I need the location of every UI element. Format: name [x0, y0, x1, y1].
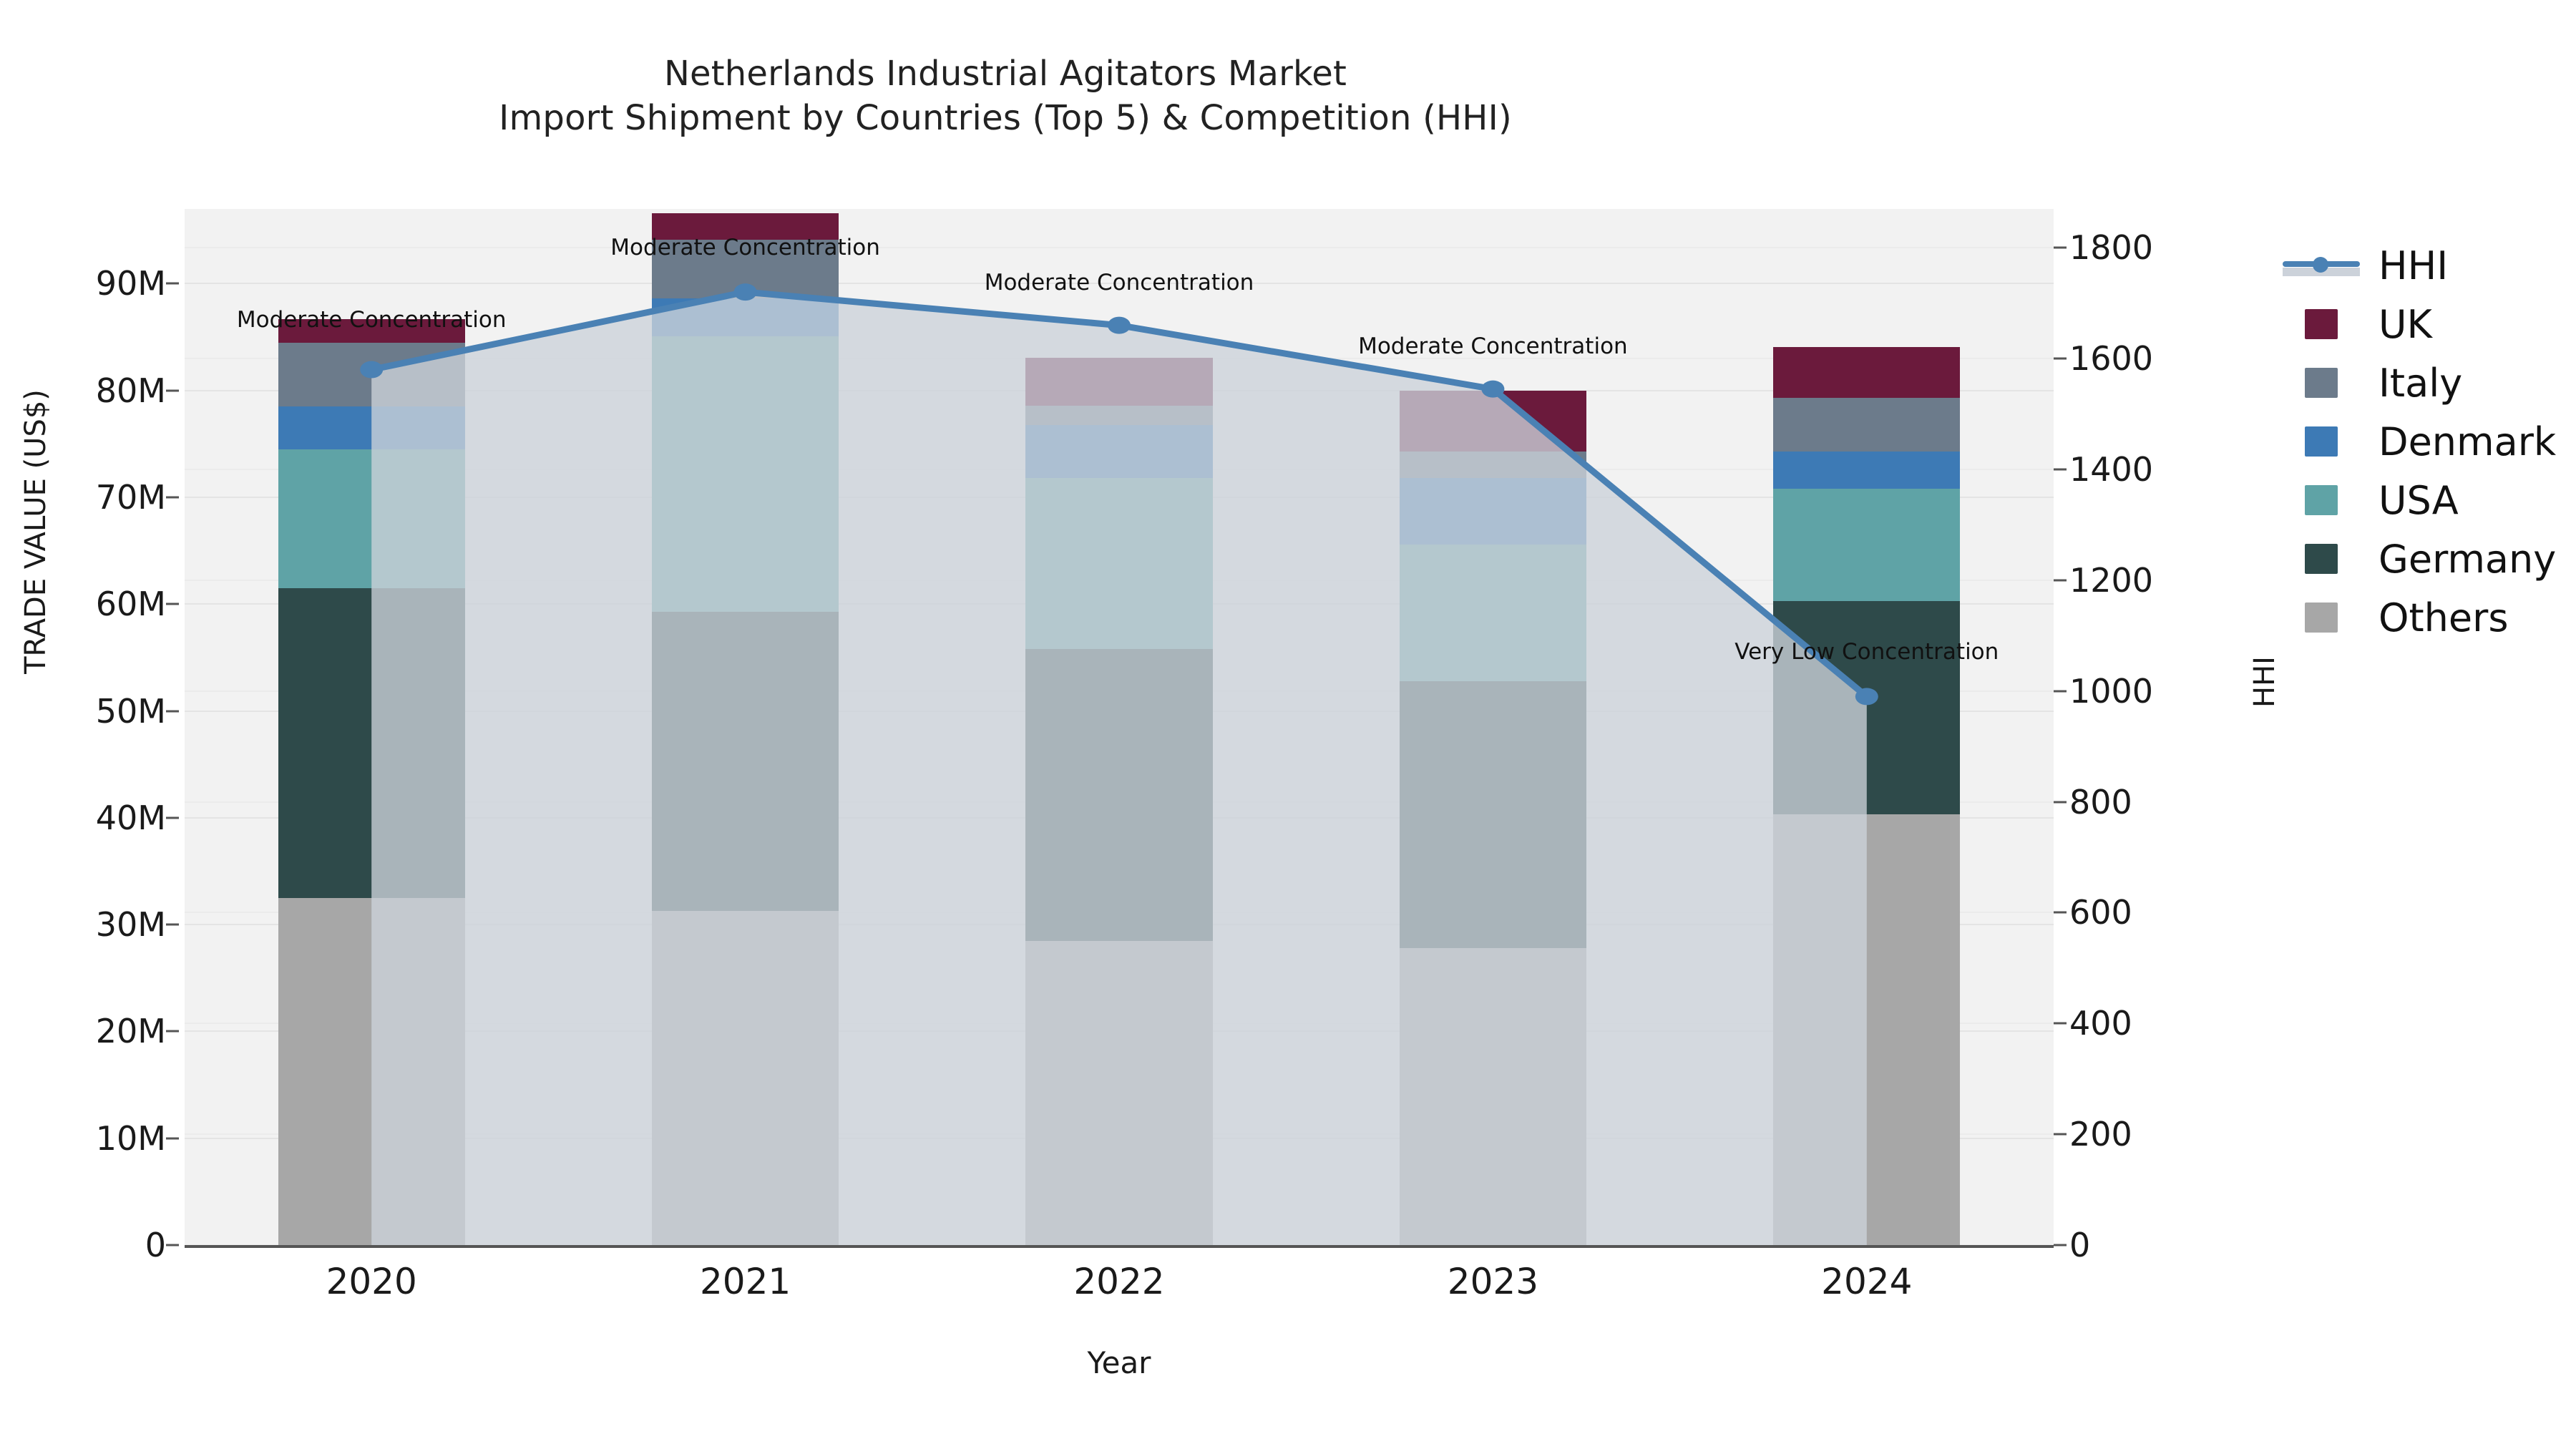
bar-segment-uk[interactable]: [1400, 391, 1586, 452]
y-tick-mark-left: [166, 1137, 179, 1139]
color-swatch-icon: [2305, 368, 2338, 398]
x-tick-label: 2021: [700, 1261, 791, 1302]
bar-group[interactable]: [652, 213, 839, 1245]
bar-segment-usa[interactable]: [278, 449, 465, 588]
y-tick-mark-left: [166, 816, 179, 819]
x-tick-label: 2022: [1073, 1261, 1164, 1302]
bar-group[interactable]: [1773, 347, 1960, 1245]
legend-label: HHI: [2379, 243, 2448, 288]
legend-item-others[interactable]: Others: [2283, 588, 2556, 647]
legend-label: Denmark: [2379, 419, 2556, 464]
y-tick-mark-right: [2054, 468, 2067, 470]
bar-group[interactable]: [1025, 358, 1212, 1246]
bar-segment-denmark[interactable]: [1400, 478, 1586, 545]
y-axis-left-label: TRADE VALUE (US$): [19, 281, 52, 782]
bar-segment-usa[interactable]: [1025, 478, 1212, 649]
y-tick-mark-right: [2054, 1133, 2067, 1136]
bar-segment-others[interactable]: [1400, 948, 1586, 1245]
color-swatch-icon: [2305, 602, 2338, 633]
y-tick-label-left: 70M: [96, 478, 166, 517]
bar-segment-denmark[interactable]: [652, 298, 839, 336]
legend-swatch-icon: [2283, 601, 2360, 634]
legend-swatch-icon: [2283, 425, 2360, 458]
y-tick-label-right: 0: [2069, 1226, 2090, 1264]
y-tick-mark-right: [2054, 690, 2067, 692]
y-tick-mark-left: [166, 1030, 179, 1033]
bar-segment-usa[interactable]: [652, 336, 839, 612]
bar-segment-italy[interactable]: [1400, 452, 1586, 478]
hhi-line-icon: [2283, 249, 2360, 282]
bar-segment-denmark[interactable]: [1025, 425, 1212, 479]
legend-label: Others: [2379, 595, 2508, 640]
chart-title-line2: Import Shipment by Countries (Top 5) & C…: [0, 96, 2011, 140]
y-tick-mark-right: [2054, 358, 2067, 360]
bar-segment-uk[interactable]: [1773, 347, 1960, 399]
legend-swatch-icon: [2283, 484, 2360, 517]
chart-title-line1: Netherlands Industrial Agitators Market: [0, 52, 2011, 96]
y-tick-mark-left: [166, 1244, 179, 1246]
y-tick-label-left: 0: [145, 1226, 166, 1264]
concentration-annotation: Moderate Concentration: [985, 270, 1254, 296]
legend-label: USA: [2379, 478, 2459, 523]
bar-segment-others[interactable]: [278, 898, 465, 1245]
y-axis-right: 020040060080010001200140016001800: [2054, 209, 2268, 1245]
concentration-annotation: Moderate Concentration: [237, 307, 507, 333]
bar-segment-germany[interactable]: [1400, 681, 1586, 948]
y-tick-mark-right: [2054, 579, 2067, 581]
legend-item-italy[interactable]: Italy: [2283, 353, 2556, 412]
legend-label: Italy: [2379, 361, 2462, 406]
concentration-annotation: Moderate Concentration: [1358, 333, 1628, 359]
bar-segment-germany[interactable]: [278, 588, 465, 898]
y-tick-mark-left: [166, 924, 179, 926]
y-tick-mark-right: [2054, 1023, 2067, 1025]
concentration-annotation: Very Low Concentration: [1735, 639, 1999, 665]
y-tick-mark-left: [166, 710, 179, 712]
legend-label: Germany: [2379, 537, 2556, 582]
legend-item-usa[interactable]: USA: [2283, 471, 2556, 530]
bar-segment-germany[interactable]: [1025, 649, 1212, 941]
y-tick-label-right: 1600: [2069, 339, 2153, 378]
y-tick-mark-right: [2054, 1244, 2067, 1246]
x-tick-label: 2020: [326, 1261, 417, 1302]
y-tick-label-right: 1200: [2069, 561, 2153, 600]
x-axis-line: [185, 1245, 2054, 1248]
bar-layer: [185, 209, 2054, 1245]
y-tick-label-right: 200: [2069, 1115, 2132, 1153]
y-tick-mark-right: [2054, 247, 2067, 249]
chart-title: Netherlands Industrial Agitators Market …: [0, 52, 2011, 141]
x-tick-label: 2024: [1821, 1261, 1912, 1302]
y-tick-label-left: 40M: [96, 799, 166, 837]
bar-segment-denmark[interactable]: [278, 406, 465, 449]
color-swatch-icon: [2305, 426, 2338, 457]
y-tick-mark-right: [2054, 801, 2067, 803]
y-tick-mark-left: [166, 389, 179, 391]
bar-segment-germany[interactable]: [1773, 601, 1960, 815]
bar-segment-usa[interactable]: [1773, 489, 1960, 601]
legend-line-icon: [2283, 249, 2360, 282]
y-tick-label-left: 20M: [96, 1012, 166, 1050]
bar-segment-others[interactable]: [652, 911, 839, 1245]
color-swatch-icon: [2305, 485, 2338, 515]
y-tick-label-right: 800: [2069, 783, 2132, 821]
legend-item-uk[interactable]: UK: [2283, 295, 2556, 353]
y-tick-label-left: 60M: [96, 585, 166, 623]
bar-segment-uk[interactable]: [1025, 358, 1212, 406]
color-swatch-icon: [2305, 309, 2338, 339]
bar-segment-denmark[interactable]: [1773, 452, 1960, 489]
bar-segment-others[interactable]: [1025, 941, 1212, 1245]
bar-group[interactable]: [278, 319, 465, 1245]
y-tick-label-left: 90M: [96, 264, 166, 303]
plot-area: Moderate ConcentrationModerate Concentra…: [185, 209, 2054, 1245]
y-tick-mark-right: [2054, 912, 2067, 914]
bar-segment-germany[interactable]: [652, 612, 839, 911]
y-tick-label-left: 10M: [96, 1119, 166, 1158]
bar-segment-italy[interactable]: [278, 343, 465, 407]
x-axis-label: Year: [185, 1345, 2054, 1380]
legend-swatch-icon: [2283, 366, 2360, 399]
y-tick-label-left: 30M: [96, 905, 166, 944]
y-tick-label-left: 50M: [96, 692, 166, 731]
bar-segment-others[interactable]: [1773, 814, 1960, 1245]
legend-swatch-icon: [2283, 308, 2360, 341]
y-tick-mark-left: [166, 603, 179, 605]
x-tick-label: 2023: [1448, 1261, 1538, 1302]
concentration-annotation: Moderate Concentration: [610, 235, 880, 260]
y-tick-mark-left: [166, 497, 179, 499]
legend-swatch-icon: [2283, 542, 2360, 575]
legend-item-germany[interactable]: Germany: [2283, 530, 2556, 588]
legend-item-denmark[interactable]: Denmark: [2283, 412, 2556, 471]
legend-item-hhi[interactable]: HHI: [2283, 236, 2556, 295]
y-tick-label-right: 600: [2069, 893, 2132, 932]
chart-figure: Netherlands Industrial Agitators Market …: [0, 0, 2576, 1449]
color-swatch-icon: [2305, 544, 2338, 574]
chart-legend: HHIUKItalyDenmarkUSAGermanyOthers: [2283, 236, 2556, 647]
y-axis-right-label: HHI: [2248, 560, 2281, 804]
y-tick-label-right: 1800: [2069, 228, 2153, 267]
bar-segment-italy[interactable]: [1025, 406, 1212, 425]
legend-label: UK: [2379, 302, 2432, 347]
y-tick-label-right: 400: [2069, 1004, 2132, 1043]
bar-segment-usa[interactable]: [1400, 545, 1586, 681]
bar-group[interactable]: [1400, 391, 1586, 1245]
bar-segment-italy[interactable]: [1773, 398, 1960, 452]
y-tick-label-left: 80M: [96, 371, 166, 410]
y-tick-mark-left: [166, 283, 179, 285]
y-tick-label-right: 1400: [2069, 450, 2153, 489]
y-tick-label-right: 1000: [2069, 672, 2153, 711]
hhi-marker-icon: [2313, 257, 2328, 273]
